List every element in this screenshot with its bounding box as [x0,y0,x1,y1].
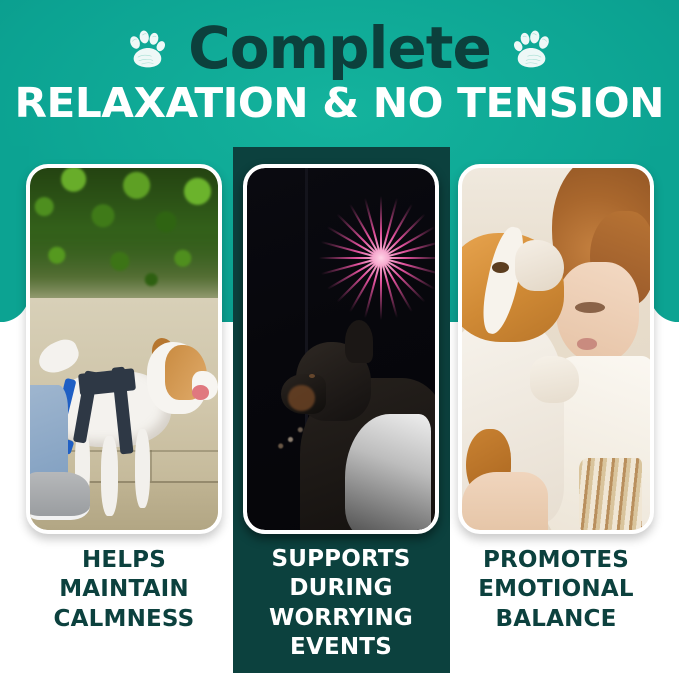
caption-line: EVENTS [241,633,441,662]
caption-line: SUPPORTS [241,545,441,574]
dog-leg [101,436,118,516]
child-sleeping-with-dog-photo [462,168,650,530]
paw-print-icon [509,25,555,71]
dog-eye [309,374,315,378]
infographic-banner: Complete RELAXATION & NO TENSION [0,0,679,679]
firework-burst [330,197,432,320]
page-title: Complete [188,19,491,77]
striped-bedding [579,458,643,530]
foliage-layer [30,168,218,313]
teal-left-rail [0,146,29,322]
dog-walking-photo [30,168,218,530]
caption-line: WORRYING [241,604,441,633]
dog-ear [345,320,373,363]
child-mouth [577,338,598,350]
caption-line: HELPS [24,546,224,575]
dog-leg [135,429,150,509]
dog-cheek-marking [288,385,314,410]
benefit-card-3[interactable] [458,164,654,534]
caption-line: PROMOTES [456,546,656,575]
caption-line: DURING [241,574,441,603]
page-subtitle: RELAXATION & NO TENSION [15,83,664,124]
caption-line: MAINTAIN [24,575,224,604]
caption-line: BALANCE [456,605,656,634]
benefit-caption-3: PROMOTES EMOTIONAL BALANCE [456,546,656,634]
benefit-card-2[interactable] [243,164,439,534]
title-row: Complete [124,19,555,77]
fireworks-dog-photo [247,168,435,530]
person-sneaker [30,472,90,519]
dog-tongue [192,385,209,399]
teal-right-rail [650,146,679,322]
caption-line: EMOTIONAL [456,575,656,604]
child-arm [462,472,548,530]
benefit-caption-1: HELPS MAINTAIN CALMNESS [24,546,224,634]
child-face [556,262,639,363]
caption-line: CALMNESS [24,605,224,634]
headline-block: Complete RELAXATION & NO TENSION [0,0,679,150]
dog-snout [515,240,564,291]
benefit-caption-2: SUPPORTS DURING WORRYING EVENTS [241,545,441,663]
dog-eye [492,262,509,273]
benefit-card-1[interactable] [26,164,222,534]
paw-print-icon [124,25,170,71]
dog-chest [345,414,431,530]
dog-paw [530,356,579,403]
child-closed-eye [575,302,605,313]
